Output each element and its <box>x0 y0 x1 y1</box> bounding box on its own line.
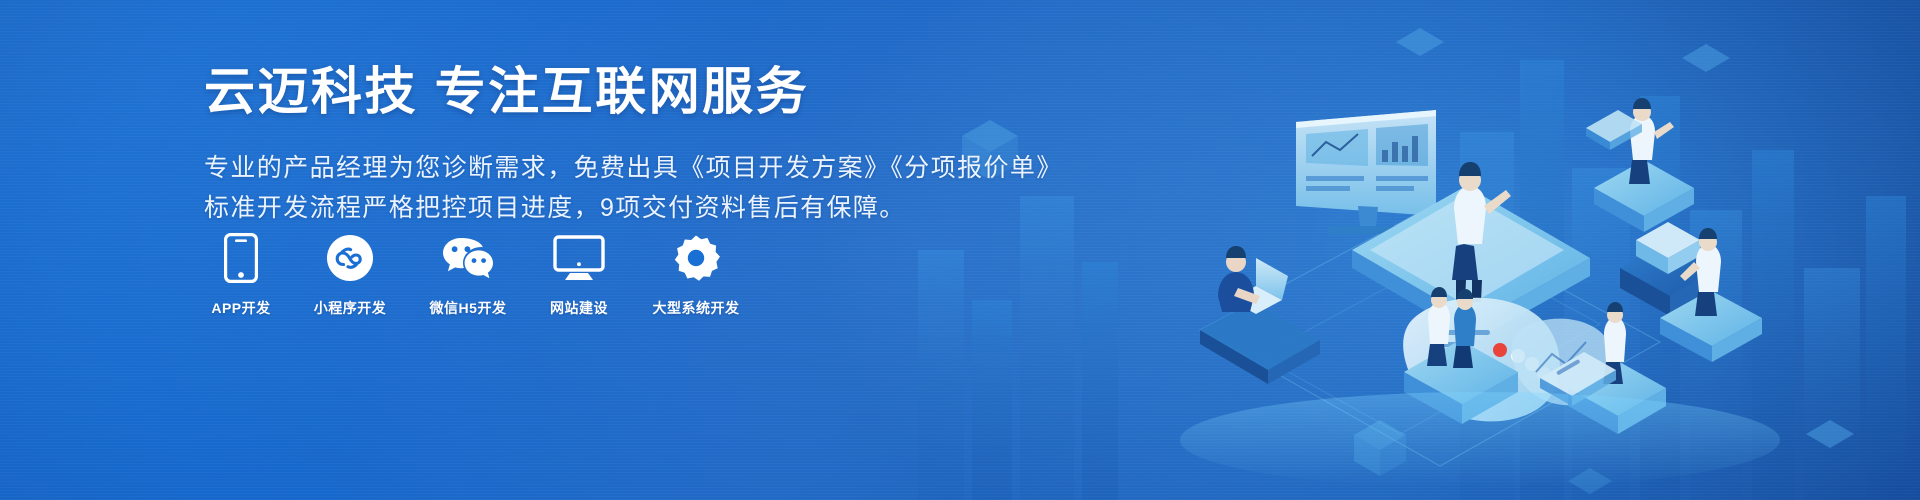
page-title: 云迈科技 专注互联网服务 <box>204 62 904 122</box>
subtitle-line-2: 标准开发流程严格把控项目进度，9项交付资料售后有保障。 <box>204 190 904 226</box>
service-item-website[interactable]: 网站建设 <box>542 232 616 318</box>
service-item-app[interactable]: APP开发 <box>204 232 278 318</box>
service-item-wechat-h5[interactable]: 微信H5开发 <box>422 232 514 318</box>
wechat-icon <box>441 232 495 284</box>
subtitle-line-1: 专业的产品经理为您诊断需求，免费出具《项目开发方案》《分项报价单》 <box>204 150 904 186</box>
mobile-phone-icon <box>224 232 258 284</box>
pedestal-laptop <box>1200 246 1320 384</box>
service-item-large-system[interactable]: 大型系统开发 <box>644 232 748 318</box>
promotional-banner: 云迈科技 专注互联网服务 专业的产品经理为您诊断需求，免费出具《项目开发方案》《… <box>0 0 1920 500</box>
isometric-illustration <box>900 0 1920 500</box>
service-item-mini-program[interactable]: 小程序开发 <box>306 232 394 318</box>
service-label-large-system: 大型系统开发 <box>653 298 740 318</box>
service-label-app: APP开发 <box>211 298 270 318</box>
service-icon-list: APP开发 小程序开发 <box>204 232 748 318</box>
service-label-wechat-h5: 微信H5开发 <box>430 298 507 318</box>
service-label-website: 网站建设 <box>550 298 608 318</box>
gear-icon <box>672 232 720 284</box>
mini-program-icon <box>326 232 374 284</box>
banner-copy-block: 云迈科技 专注互联网服务 专业的产品经理为您诊断需求，免费出具《项目开发方案》《… <box>204 62 904 227</box>
monitor-icon <box>553 232 605 284</box>
service-label-mini-program: 小程序开发 <box>314 298 387 318</box>
